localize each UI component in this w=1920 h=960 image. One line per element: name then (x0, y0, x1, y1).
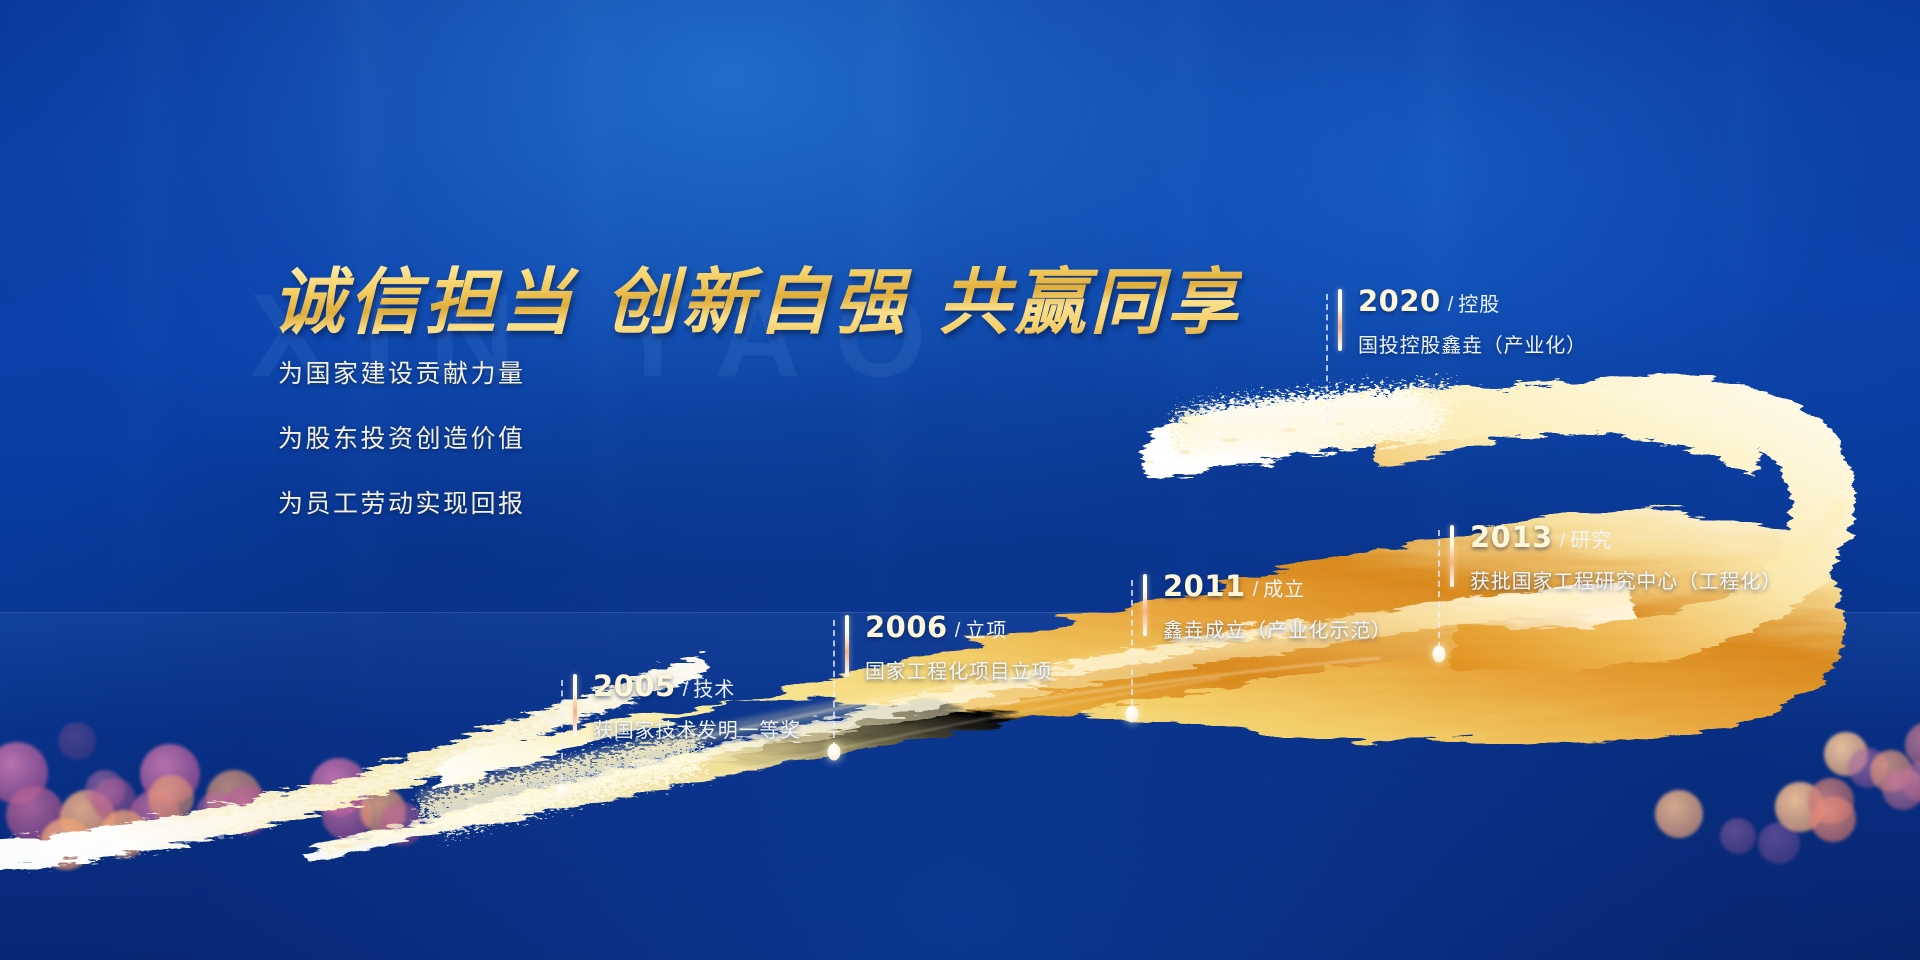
marker-slash: / (1448, 294, 1454, 316)
marker-description: 获国家技术发明一等奖 (593, 714, 801, 743)
marker-year: 2005 (593, 669, 676, 703)
marker-description: 国投控股鑫垚（产业化） (1358, 329, 1587, 358)
slogan-line-1: 为国家建设贡献力量 (278, 354, 526, 390)
slogan-list: 为国家建设贡献力量 为股东投资创造价值 为员工劳动实现回报 (278, 354, 526, 549)
marker-headline: 2006/立项 (865, 613, 1052, 642)
timeline-marker-2020[interactable]: 2020/控股 国投控股鑫垚（产业化） (1338, 287, 1587, 358)
marker-headline: 2005/技术 (593, 672, 801, 701)
marker-category: 研究 (1570, 530, 1612, 552)
marker-year: 2020 (1358, 284, 1441, 318)
marker-accent-bar (1143, 574, 1147, 636)
timeline-marker-2006[interactable]: 2006/立项 国家工程化项目立项 (845, 613, 1052, 684)
marker-text: 2006/立项 国家工程化项目立项 (845, 613, 1052, 684)
marker-accent-bar (1338, 289, 1342, 351)
marker-year: 2011 (1163, 569, 1246, 603)
ribbon-upper-return (1142, 384, 1768, 477)
marker-category: 成立 (1263, 579, 1305, 601)
marker-category: 技术 (693, 679, 735, 701)
timeline-marker-2005[interactable]: 2005/技术 获国家技术发明一等奖 (573, 672, 801, 743)
marker-slash: / (683, 679, 689, 701)
marker-headline: 2013/研究 (1470, 523, 1782, 552)
marker-slash: / (955, 620, 961, 642)
marker-slash: / (1253, 579, 1259, 601)
marker-year: 2013 (1470, 520, 1553, 554)
marker-accent-bar (1450, 525, 1454, 587)
timeline-marker-2011[interactable]: 2011/成立 鑫垚成立（产业化示范） (1143, 572, 1392, 643)
marker-description: 国家工程化项目立项 (865, 655, 1052, 684)
marker-headline: 2020/控股 (1358, 287, 1587, 316)
marker-text: 2020/控股 国投控股鑫垚（产业化） (1338, 287, 1587, 358)
timeline-dot-2006[interactable] (828, 744, 841, 761)
marker-category: 控股 (1458, 294, 1500, 316)
marker-description: 获批国家工程研究中心（工程化） (1470, 565, 1782, 594)
marker-category: 立项 (965, 620, 1007, 642)
marker-accent-bar (845, 615, 849, 677)
marker-text: 2013/研究 获批国家工程研究中心（工程化） (1450, 523, 1782, 594)
marker-slash: / (1560, 530, 1566, 552)
marker-year: 2006 (865, 610, 948, 644)
leader-line-2020 (1326, 294, 1328, 422)
slogan-line-3: 为员工劳动实现回报 (278, 484, 526, 520)
timeline-dot-2013[interactable] (1433, 646, 1446, 663)
leader-line-2011 (1131, 580, 1133, 705)
leader-line-2006 (833, 620, 835, 748)
marker-description: 鑫垚成立（产业化示范） (1163, 614, 1392, 643)
slogan-line-2: 为股东投资创造价值 (278, 419, 526, 455)
marker-text: 2011/成立 鑫垚成立（产业化示范） (1143, 572, 1392, 643)
timeline-marker-2013[interactable]: 2013/研究 获批国家工程研究中心（工程化） (1450, 523, 1782, 594)
leader-line-2013 (1438, 530, 1440, 648)
timeline-dot-2011[interactable] (1126, 706, 1139, 723)
marker-text: 2005/技术 获国家技术发明一等奖 (573, 672, 801, 743)
ribbon-upper-spray (1175, 386, 1452, 460)
marker-headline: 2011/成立 (1163, 572, 1392, 601)
page-title: 诚信担当 创新自强 共赢同享 (272, 243, 1242, 348)
banner-stage: XIN YAO 诚信担当 创新自强 共赢同享 为国家建设贡献力量 为股东投资创造… (0, 0, 1920, 960)
marker-accent-bar (573, 674, 577, 736)
timeline-dot-2005[interactable] (556, 784, 569, 801)
leader-line-2005 (561, 680, 563, 790)
